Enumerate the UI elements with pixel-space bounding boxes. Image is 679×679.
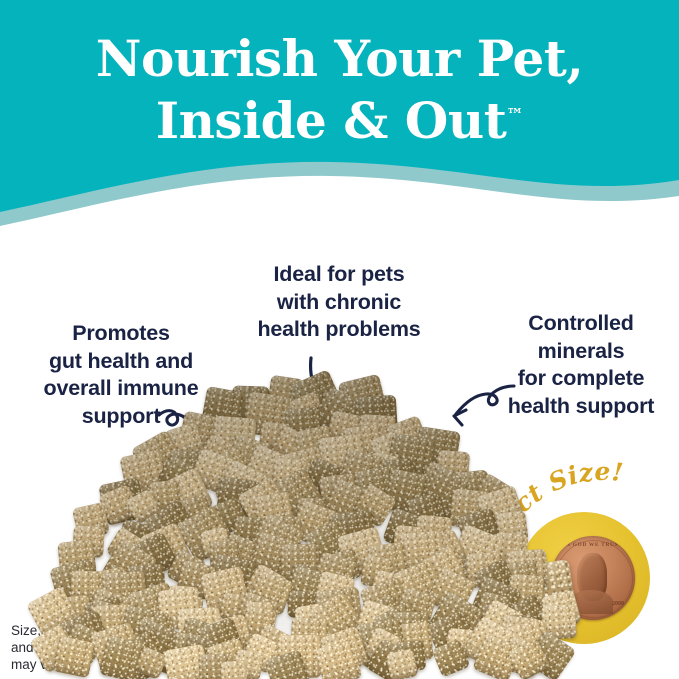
product-marketing-image: Nourish Your Pet,Inside & Out™ Promotes … (0, 0, 679, 679)
kibble-piece (52, 636, 95, 679)
page-title: Nourish Your Pet,Inside & Out™ (0, 28, 679, 152)
callout-chronic-health: Ideal for pets with chronic health probl… (236, 261, 442, 344)
title-line-1: Nourish Your Pet, (96, 29, 584, 88)
kibble-piece (385, 648, 418, 679)
trademark-symbol: ™ (506, 105, 523, 125)
header-banner: Nourish Your Pet,Inside & Out™ (0, 0, 679, 232)
title-line-2: Inside & Out (156, 91, 507, 150)
kibble-piece (219, 659, 248, 679)
curly-arrow-down-left-icon (452, 382, 516, 432)
